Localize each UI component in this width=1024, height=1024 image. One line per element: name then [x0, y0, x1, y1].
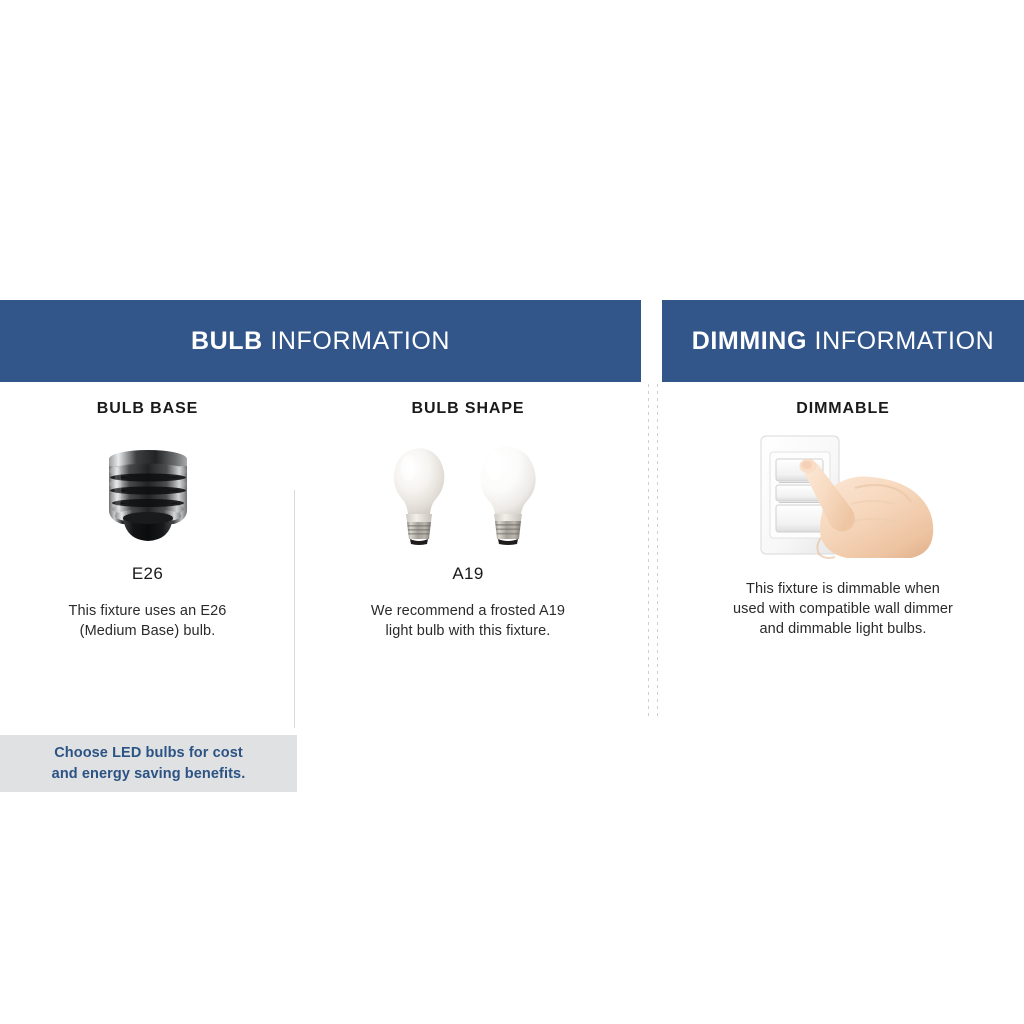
- panel-title-dimming-information: DIMMING INFORMATION: [692, 327, 995, 356]
- e26-screw-base-icon: [48, 440, 248, 550]
- panel-title-rest: INFORMATION: [807, 327, 994, 355]
- dimmable-description: This fixture is dimmable when used with …: [733, 579, 953, 639]
- column-bulb-shape: BULB SHAPE: [295, 400, 641, 641]
- panel-title-strong: BULB: [191, 327, 263, 355]
- bulb-shape-description-line-1: We recommend a frosted A19: [371, 601, 565, 621]
- bulb-shape-value: A19: [452, 564, 483, 584]
- panel-title-strong: DIMMING: [692, 327, 807, 355]
- column-title-bulb-shape: BULB SHAPE: [411, 400, 524, 418]
- panel-title-rest: INFORMATION: [263, 327, 450, 355]
- panel-title-bulb-information: BULB INFORMATION: [191, 327, 450, 356]
- panel-body-bulb-information: BULB BASE: [0, 382, 641, 641]
- panel-body-dimming-information: DIMMABLE: [662, 382, 1024, 639]
- column-divider: [294, 490, 295, 728]
- bulb-shape-description: We recommend a frosted A19 light bulb wi…: [371, 601, 565, 641]
- column-title-dimmable: DIMMABLE: [796, 400, 889, 418]
- dimmable-description-line-1: This fixture is dimmable when: [733, 579, 953, 599]
- column-title-bulb-base: BULB BASE: [97, 400, 198, 418]
- dimmable-description-line-2: used with compatible wall dimmer: [733, 599, 953, 619]
- panel-separator-dashed-right: [657, 384, 658, 718]
- panel-dimming-information: DIMMING INFORMATION DIMMABLE: [662, 300, 1024, 639]
- panel-separator-dashed-left: [648, 384, 649, 718]
- bulb-and-dimming-information-graphic: BULB INFORMATION BULB BASE: [0, 0, 1024, 1024]
- column-bulb-base: BULB BASE: [0, 400, 295, 641]
- bulb-base-value: E26: [132, 564, 163, 584]
- bulb-base-description: This fixture uses an E26 (Medium Base) b…: [69, 601, 227, 641]
- led-savings-callout-line-2: and energy saving benefits.: [52, 764, 246, 785]
- wall-dimmer-switch-with-hand-icon: [713, 432, 973, 562]
- a19-bulbs-icon: [358, 440, 578, 550]
- led-savings-callout: Choose LED bulbs for cost and energy sav…: [0, 735, 297, 792]
- panel-bulb-information: BULB INFORMATION BULB BASE: [0, 300, 641, 641]
- dimmable-description-line-3: and dimmable light bulbs.: [733, 619, 953, 639]
- bulb-base-description-line-2: (Medium Base) bulb.: [69, 621, 227, 641]
- panel-header-dimming-information: DIMMING INFORMATION: [662, 300, 1024, 382]
- led-savings-callout-line-1: Choose LED bulbs for cost: [54, 743, 243, 764]
- bulb-shape-description-line-2: light bulb with this fixture.: [371, 621, 565, 641]
- bulb-base-description-line-1: This fixture uses an E26: [69, 601, 227, 621]
- panel-header-bulb-information: BULB INFORMATION: [0, 300, 641, 382]
- column-dimmable: DIMMABLE: [662, 400, 1024, 639]
